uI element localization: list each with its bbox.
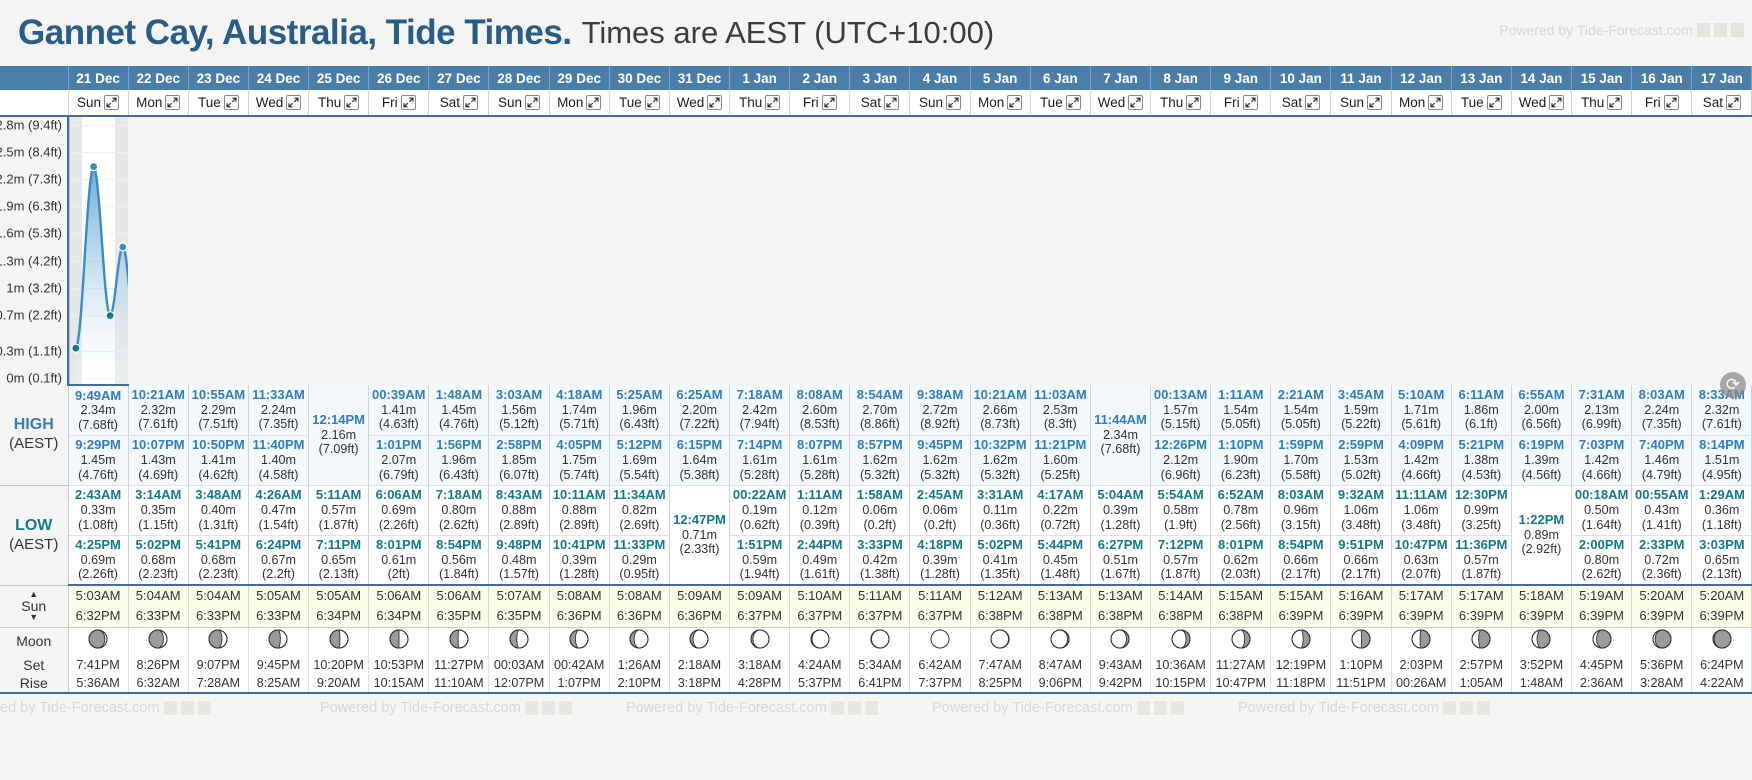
high-tide-time: 8:54AM <box>850 387 909 402</box>
y-axis-tick-label: 2.5m (8.4ft) <box>0 145 62 160</box>
date-header-28-dec[interactable]: 28 Dec <box>489 66 549 90</box>
low-tide-time: 5:02PM <box>971 537 1030 552</box>
low-tide-height-ft: (1.35ft) <box>971 567 1030 582</box>
high-tide-time: 11:03AM <box>1031 387 1090 402</box>
low-tide-cell: 1:22PM0.89m(2.92ft) <box>1511 485 1571 585</box>
date-header-9-jan[interactable]: 9 Jan <box>1211 66 1271 90</box>
moonset-time: 7:41PM <box>68 655 128 674</box>
high-tide-cell: 7:40PM1.46m(4.79ft) <box>1632 435 1692 485</box>
low-tide-cell: 4:26AM0.47m(1.54ft) <box>248 485 308 535</box>
expand-day-icon[interactable] <box>1367 95 1382 110</box>
date-header-17-jan[interactable]: 17 Jan <box>1692 66 1752 90</box>
high-tide-time: 11:40PM <box>249 437 308 452</box>
sunrise-time: 5:09AM <box>670 586 729 606</box>
moon-set-label: Set <box>0 655 68 674</box>
moon-phase-row: Moon <box>0 627 1752 655</box>
moonrise-time: 8:25PM <box>970 674 1030 693</box>
low-tide-height-m: 0.69m <box>369 503 428 518</box>
high-tide-time: 12:26PM <box>1151 437 1210 452</box>
expand-day-icon[interactable] <box>822 95 837 110</box>
expand-day-icon[interactable] <box>1007 95 1022 110</box>
moonset-time: 5:36PM <box>1632 655 1692 674</box>
low-tide-cell: 5:44PM0.45m(1.48ft) <box>1030 535 1090 585</box>
low-tide-time: 8:01PM <box>369 537 428 552</box>
low-tide-height-m: 0.89m <box>1512 528 1571 543</box>
high-tide-time: 10:21AM <box>971 387 1030 402</box>
tide-chart-canvas[interactable] <box>69 117 128 384</box>
low-tide-height-m: 0.78m <box>1211 503 1270 518</box>
sunrise-time: 5:11AM <box>910 586 969 606</box>
moon-label: Moon <box>0 627 68 655</box>
low-tide-height-ft: (0.62ft) <box>730 518 789 533</box>
date-header-21-dec[interactable]: 21 Dec <box>68 66 128 90</box>
low-tide-height-ft: (2.13ft) <box>1692 567 1751 582</box>
powered-by-top: Powered by Tide-Forecast.com <box>1499 22 1744 38</box>
high-tide-cell: 11:40PM1.40m(4.58ft) <box>248 435 308 485</box>
sun-times-cell: 5:04AM6:33PM <box>128 585 188 627</box>
high-tide-time: 1:10PM <box>1211 437 1270 452</box>
high-tide-height-m: 1.43m <box>129 453 188 468</box>
high-tide-height-m: 1.61m <box>790 453 849 468</box>
weekday-label: Tue <box>198 95 221 110</box>
low-tide-height-ft: (1.87ft) <box>309 518 368 533</box>
high-tide-time: 4:09PM <box>1392 437 1451 452</box>
moon-phase-icon <box>749 628 771 650</box>
high-tide-height-ft: (7.51ft) <box>189 417 248 432</box>
high-tide-height-m: 2.60m <box>790 403 849 418</box>
low-tide-time: 5:04AM <box>1091 487 1150 502</box>
moonset-time: 6:24PM <box>1692 655 1752 674</box>
weekday-header-thu-25: Thu <box>1572 90 1632 116</box>
high-tide-height-ft: (4.79ft) <box>1632 468 1691 483</box>
expand-day-icon[interactable] <box>224 95 239 110</box>
high-tide-time: 12:14PM <box>309 412 368 427</box>
moonset-time: 9:07PM <box>188 655 248 674</box>
low-tide-height-m: 1.06m <box>1331 503 1390 518</box>
moon-phase-icon <box>1350 628 1372 650</box>
expand-day-icon[interactable] <box>344 95 359 110</box>
date-header-10-jan[interactable]: 10 Jan <box>1271 66 1331 90</box>
moon-phase-icon <box>628 628 650 650</box>
date-header-13-jan[interactable]: 13 Jan <box>1451 66 1511 90</box>
high-tide-height-m: 1.40m <box>249 453 308 468</box>
sun-times-cell: 5:17AM6:39PM <box>1451 585 1511 627</box>
y-axis-tick-label: 1m (3.2ft) <box>6 280 62 295</box>
high-tide-height-ft: (6.56ft) <box>1512 417 1571 432</box>
low-tide-height-ft: (0.2ft) <box>850 518 909 533</box>
date-header-25-dec[interactable]: 25 Dec <box>309 66 369 90</box>
high-tide-height-ft: (6.43ft) <box>610 417 669 432</box>
low-tide-height-m: 0.88m <box>489 503 548 518</box>
weekday-corner <box>0 90 68 116</box>
low-tide-height-ft: (1.87ft) <box>1151 567 1210 582</box>
date-header-16-jan[interactable]: 16 Jan <box>1632 66 1692 90</box>
footer-brand-icon-3 <box>1477 701 1490 715</box>
low-tide-height-ft: (1.28ft) <box>910 567 969 582</box>
weekday-header-sun-21: Sun <box>1331 90 1391 116</box>
date-header-7-jan[interactable]: 7 Jan <box>1090 66 1150 90</box>
low-tide-height-ft: (3.48ft) <box>1331 518 1390 533</box>
high-tide-time: 10:07PM <box>129 437 188 452</box>
high-tide-height-m: 1.56m <box>489 403 548 418</box>
expand-day-icon[interactable] <box>1726 95 1741 110</box>
high-tide-height-m: 2.29m <box>189 403 248 418</box>
moonrise-time: 3:28AM <box>1632 674 1692 693</box>
low-tide-time: 8:54PM <box>429 537 488 552</box>
tide-chart[interactable] <box>68 116 128 385</box>
high-tide-cell: 11:33AM2.24m(7.35ft) <box>248 385 308 435</box>
expand-day-icon[interactable] <box>401 95 416 110</box>
high-tide-time: 7:03PM <box>1572 437 1631 452</box>
high-tide-time: 7:40PM <box>1632 437 1691 452</box>
expand-day-icon[interactable] <box>1243 95 1258 110</box>
date-header-2-jan[interactable]: 2 Jan <box>790 66 850 90</box>
high-tide-height-ft: (5.28ft) <box>790 468 849 483</box>
sunset-time: 6:36PM <box>670 606 729 626</box>
low-tide-time: 3:14AM <box>129 487 188 502</box>
high-tide-height-m: 1.74m <box>550 403 609 418</box>
high-tide-cell: 7:14PM1.61m(5.28ft) <box>730 435 790 485</box>
high-tide-time: 3:45AM <box>1331 387 1390 402</box>
date-header-4-jan[interactable]: 4 Jan <box>910 66 970 90</box>
high-tide-height-ft: (4.53ft) <box>1452 468 1511 483</box>
sun-times-cell: 5:15AM6:38PM <box>1211 585 1271 627</box>
low-tide-height-ft: (0.72ft) <box>1031 518 1090 533</box>
high-tide-point <box>119 243 127 251</box>
high-tide-height-m: 2.70m <box>850 403 909 418</box>
sunset-time: 6:37PM <box>910 606 969 626</box>
weekday-label: Thu <box>318 95 341 110</box>
date-header-22-dec[interactable]: 22 Dec <box>128 66 188 90</box>
date-header-23-dec[interactable]: 23 Dec <box>188 66 248 90</box>
footer-watermark: Powered by Tide-Forecast.com <box>320 700 572 716</box>
high-tide-cell: 8:54AM2.70m(8.86ft) <box>850 385 910 435</box>
expand-day-icon[interactable] <box>586 95 601 110</box>
moon-phase-cell <box>68 627 128 655</box>
sunset-time: 6:37PM <box>850 606 909 626</box>
weekday-label: Tue <box>619 95 642 110</box>
sun-times-cell: 5:13AM6:38PM <box>1030 585 1090 627</box>
moonset-time: 2:18AM <box>669 655 729 674</box>
moonrise-time: 6:32AM <box>128 674 188 693</box>
expand-day-icon[interactable] <box>1549 95 1564 110</box>
expand-day-icon[interactable] <box>1186 95 1201 110</box>
low-tide-height-m: 0.29m <box>610 553 669 568</box>
low-tide-time: 1:51PM <box>730 537 789 552</box>
weekday-label: Sat <box>1703 95 1723 110</box>
low-tide-height-m: 0.58m <box>1151 503 1210 518</box>
high-tide-height-ft: (5.32ft) <box>971 468 1030 483</box>
high-tide-height-ft: (4.62ft) <box>189 468 248 483</box>
high-tide-cell: 6:19PM1.39m(4.56ft) <box>1511 435 1571 485</box>
low-tide-cell: 9:48PM0.48m(1.57ft) <box>489 535 549 585</box>
footer-watermark: Powered by Tide-Forecast.com <box>1238 700 1490 716</box>
low-tide-point <box>72 344 80 352</box>
moonrise-time: 9:06PM <box>1030 674 1090 693</box>
high-tide-cell: 6:11AM1.86m(6.1ft) <box>1451 385 1511 435</box>
expand-day-icon[interactable] <box>765 95 780 110</box>
y-axis-tick-label: 0.7m (2.2ft) <box>0 307 62 322</box>
date-header-29-dec[interactable]: 29 Dec <box>549 66 609 90</box>
sun-times-cell: 5:05AM6:34PM <box>309 585 369 627</box>
moon-phase-cell <box>248 627 308 655</box>
moonrise-time: 7:37PM <box>910 674 970 693</box>
date-header-24-dec[interactable]: 24 Dec <box>248 66 308 90</box>
low-tide-time: 8:03AM <box>1271 487 1330 502</box>
expand-day-icon[interactable] <box>286 95 301 110</box>
expand-day-icon[interactable] <box>104 95 119 110</box>
moonrise-time: 3:18PM <box>669 674 729 693</box>
high-tide-height-m: 1.96m <box>429 453 488 468</box>
high-tide-height-ft: (8.73ft) <box>971 417 1030 432</box>
low-tide-time: 6:52AM <box>1211 487 1270 502</box>
high-tide-cell: 10:21AM2.32m(7.61ft) <box>128 385 188 435</box>
sun-times-cell: 5:08AM6:36PM <box>549 585 609 627</box>
low-tide-cell: 9:51PM0.66m(2.17ft) <box>1331 535 1391 585</box>
low-tide-point <box>106 312 114 320</box>
moonrise-time: 9:42PM <box>1090 674 1150 693</box>
high-tide-time: 8:57PM <box>850 437 909 452</box>
moonset-time: 10:20PM <box>309 655 369 674</box>
high-tide-cell: 2:59PM1.53m(5.02ft) <box>1331 435 1391 485</box>
low-tide-height-ft: (2.17ft) <box>1331 567 1390 582</box>
moonrise-time: 4:28PM <box>730 674 790 693</box>
footer-watermark: Powered by Tide-Forecast.com <box>932 700 1184 716</box>
high-tide-height-ft: (8.92ft) <box>910 417 969 432</box>
high-tide-height-m: 1.54m <box>1211 403 1270 418</box>
high-tide-cell: 11:21PM1.60m(5.25ft) <box>1030 435 1090 485</box>
y-axis-tick-label: 1.3m (4.2ft) <box>0 253 62 268</box>
expand-day-icon[interactable] <box>463 95 478 110</box>
high-tide-height-ft: (5.05ft) <box>1271 417 1330 432</box>
low-tide-height-m: 0.22m <box>1031 503 1090 518</box>
expand-day-icon[interactable] <box>1428 95 1443 110</box>
expand-day-icon[interactable] <box>525 95 540 110</box>
page-header: Gannet Cay, Australia, Tide Times. Times… <box>0 0 1752 66</box>
expand-day-icon[interactable] <box>645 95 660 110</box>
low-tide-time: 9:51PM <box>1331 537 1390 552</box>
weekday-label: Thu <box>1581 95 1604 110</box>
low-tide-height-ft: (2.62ft) <box>429 518 488 533</box>
expand-day-icon[interactable] <box>707 95 722 110</box>
sunset-time: 6:39PM <box>1512 606 1571 626</box>
high-tide-cell: 11:44AM2.34m(7.68ft) <box>1090 385 1150 485</box>
date-header-31-dec[interactable]: 31 Dec <box>669 66 729 90</box>
footer-watermark: ed by Tide-Forecast.com <box>0 700 211 716</box>
page-subtitle: Times are AEST (UTC+10:00) <box>582 15 995 51</box>
high-tide-height-ft: (6.23ft) <box>1211 468 1270 483</box>
footer-brand-icon-1 <box>525 701 538 715</box>
low-tide-height-ft: (1.28ft) <box>550 567 609 582</box>
low-tide-time: 5:54AM <box>1151 487 1210 502</box>
low-tide-height-m: 0.59m <box>730 553 789 568</box>
high-tide-time: 00:39AM <box>369 387 428 402</box>
sunset-time: 6:35PM <box>429 606 488 626</box>
low-tide-height-ft: (1.15ft) <box>129 518 188 533</box>
moon-phase-cell <box>549 627 609 655</box>
high-tide-height-m: 1.62m <box>850 453 909 468</box>
high-tide-time: 7:14PM <box>730 437 789 452</box>
low-tide-height-m: 0.68m <box>129 553 188 568</box>
expand-day-icon[interactable] <box>1305 95 1320 110</box>
sunset-time: 6:33PM <box>249 606 308 626</box>
moonrise-time: 1:48AM <box>1511 674 1571 693</box>
low-tide-time: 1:11AM <box>790 487 849 502</box>
moon-phase-icon <box>267 628 289 650</box>
expand-day-icon[interactable] <box>1607 95 1622 110</box>
moonset-time: 3:52PM <box>1511 655 1571 674</box>
moonrise-time: 10:15AM <box>369 674 429 693</box>
high-tide-cell: 1:56PM1.96m(6.43ft) <box>429 435 489 485</box>
high-tide-height-m: 1.61m <box>730 453 789 468</box>
date-header-6-jan[interactable]: 6 Jan <box>1030 66 1090 90</box>
low-tide-time: 7:18AM <box>429 487 488 502</box>
weekday-header-wed-10: Wed <box>669 90 729 116</box>
date-header-8-jan[interactable]: 8 Jan <box>1151 66 1211 90</box>
moonrise-time: 11:10AM <box>429 674 489 693</box>
expand-day-icon[interactable] <box>1066 95 1081 110</box>
low-tide-height-ft: (1.48ft) <box>1031 567 1090 582</box>
low-tide-height-ft: (3.48ft) <box>1392 518 1451 533</box>
brand-icon-1 <box>1697 23 1710 37</box>
low-tide-height-m: 0.66m <box>1331 553 1390 568</box>
moonset-time: 10:53PM <box>369 655 429 674</box>
weekday-label: Sat <box>861 95 881 110</box>
low-tide-cell: 00:55AM0.43m(1.41ft) <box>1632 485 1692 535</box>
high-tide-height-m: 1.64m <box>670 453 729 468</box>
date-header-30-dec[interactable]: 30 Dec <box>609 66 669 90</box>
date-header-3-jan[interactable]: 3 Jan <box>850 66 910 90</box>
sunrise-time: 5:07AM <box>489 586 548 606</box>
moon-set-row: Set 7:41PM8:26PM9:07PM9:45PM10:20PM10:53… <box>0 655 1752 674</box>
high-tide-cell: 5:12PM1.69m(5.54ft) <box>609 435 669 485</box>
moon-phase-cell <box>1030 627 1090 655</box>
high-tide-cell: 6:15PM1.64m(5.38ft) <box>669 435 729 485</box>
moon-phase-icon <box>207 628 229 650</box>
date-header-1-jan[interactable]: 1 Jan <box>730 66 790 90</box>
high-tide-height-m: 1.42m <box>1572 453 1631 468</box>
moon-phase-cell <box>1151 627 1211 655</box>
footer-watermark-text: ed by Tide-Forecast.com <box>0 700 160 716</box>
weekday-header-tue-9: Tue <box>609 90 669 116</box>
high-tide-time: 9:29PM <box>69 437 128 452</box>
low-tide-time: 11:33PM <box>610 537 669 552</box>
low-tide-height-ft: (2.56ft) <box>1211 518 1270 533</box>
sunrise-time: 5:20AM <box>1632 586 1691 606</box>
moonrise-time: 2:36AM <box>1572 674 1632 693</box>
date-header-15-jan[interactable]: 15 Jan <box>1572 66 1632 90</box>
sunrise-time: 5:06AM <box>369 586 428 606</box>
moonset-time: 2:57PM <box>1451 655 1511 674</box>
moonrise-time: 9:20AM <box>309 674 369 693</box>
low-tide-height-ft: (0.39ft) <box>790 518 849 533</box>
low-tide-cell: 12:47PM0.71m(2.33ft) <box>669 485 729 585</box>
weekday-label: Fri <box>1224 95 1240 110</box>
sun-row: ▲ Sun ▼ 5:03AM6:32PM5:04AM6:33PM5:04AM6:… <box>0 585 1752 627</box>
high-tide-time: 6:25AM <box>670 387 729 402</box>
expand-day-icon[interactable] <box>1128 95 1143 110</box>
weekday-label: Sun <box>77 95 101 110</box>
low-tide-cell: 11:36PM0.57m(1.87ft) <box>1451 535 1511 585</box>
date-header-12-jan[interactable]: 12 Jan <box>1391 66 1451 90</box>
expand-day-icon[interactable] <box>946 95 961 110</box>
sun-times-cell: 5:20AM6:39PM <box>1632 585 1692 627</box>
sunset-time: 6:33PM <box>129 606 188 626</box>
weekday-label: Wed <box>1098 95 1126 110</box>
low-tide-cell: 11:34AM0.82m(2.69ft) <box>609 485 669 535</box>
high-tide-time: 1:01PM <box>369 437 428 452</box>
sun-times-cell: 5:05AM6:33PM <box>248 585 308 627</box>
weekday-header-fri-5: Fri <box>369 90 429 116</box>
date-header-27-dec[interactable]: 27 Dec <box>429 66 489 90</box>
low-tide-height-m: 0.06m <box>910 503 969 518</box>
high-tide-cell: 8:57PM1.62m(5.32ft) <box>850 435 910 485</box>
moonrise-time: 5:37PM <box>790 674 850 693</box>
expand-day-icon[interactable] <box>1664 95 1679 110</box>
low-tide-time: 5:11AM <box>309 487 368 502</box>
date-header-14-jan[interactable]: 14 Jan <box>1511 66 1571 90</box>
high-tide-row-1: HIGH (AEST) 9:49AM2.34m(7.68ft)10:21AM2.… <box>0 385 1752 435</box>
expand-day-icon[interactable] <box>884 95 899 110</box>
moonset-time: 8:26PM <box>128 655 188 674</box>
high-tide-height-m: 1.69m <box>610 453 669 468</box>
moon-phase-icon <box>388 628 410 650</box>
expand-day-icon[interactable] <box>1487 95 1502 110</box>
low-tide-time: 9:32AM <box>1331 487 1390 502</box>
sunrise-time: 5:08AM <box>610 586 669 606</box>
low-tide-cell: 1:58AM0.06m(0.2ft) <box>850 485 910 535</box>
date-header-11-jan[interactable]: 11 Jan <box>1331 66 1391 90</box>
high-tide-time: 6:19PM <box>1512 437 1571 452</box>
weekday-label: Sun <box>919 95 943 110</box>
sunrise-time: 5:03AM <box>69 586 128 606</box>
moon-phase-icon <box>1290 628 1312 650</box>
moonrise-time: 00:26AM <box>1391 674 1451 693</box>
low-tide-height-ft: (2.36ft) <box>1632 567 1691 582</box>
low-tide-label: LOW (AEST) <box>0 485 68 585</box>
low-tide-height-m: 0.43m <box>1632 503 1691 518</box>
weekday-header-thu-4: Thu <box>309 90 369 116</box>
high-tide-time: 7:31AM <box>1572 387 1631 402</box>
high-tide-height-m: 1.59m <box>1331 403 1390 418</box>
moon-phase-cell <box>850 627 910 655</box>
high-tide-height-m: 1.41m <box>189 453 248 468</box>
high-tide-time: 9:45PM <box>910 437 969 452</box>
moon-phase-cell <box>369 627 429 655</box>
page-title: Gannet Cay, Australia, Tide Times. <box>18 13 572 53</box>
sunrise-time: 5:05AM <box>309 586 368 606</box>
moon-phase-cell <box>309 627 369 655</box>
weekday-label: Fri <box>803 95 819 110</box>
high-tide-height-m: 2.72m <box>910 403 969 418</box>
high-tide-height-m: 1.96m <box>610 403 669 418</box>
chart-y-axis: 2.8m (9.4ft)2.5m (8.4ft)2.2m (7.3ft)1.9m… <box>0 116 68 385</box>
sunset-time: 6:38PM <box>1031 606 1090 626</box>
low-tide-height-m: 0.12m <box>790 503 849 518</box>
low-tide-height-ft: (2.07ft) <box>1392 567 1451 582</box>
date-header-5-jan[interactable]: 5 Jan <box>970 66 1030 90</box>
high-tide-cell: 4:09PM1.42m(4.66ft) <box>1391 435 1451 485</box>
expand-day-icon[interactable] <box>165 95 180 110</box>
footer-brand-icon-1 <box>1137 701 1150 715</box>
sun-times-cell: 5:09AM6:36PM <box>669 585 729 627</box>
moonrise-time: 6:41PM <box>850 674 910 693</box>
low-tide-time: 5:02PM <box>129 537 188 552</box>
date-header-26-dec[interactable]: 26 Dec <box>369 66 429 90</box>
moon-phase-icon <box>1109 628 1131 650</box>
sunset-time: 6:39PM <box>1572 606 1631 626</box>
high-tide-cell: 10:21AM2.66m(8.73ft) <box>970 385 1030 435</box>
